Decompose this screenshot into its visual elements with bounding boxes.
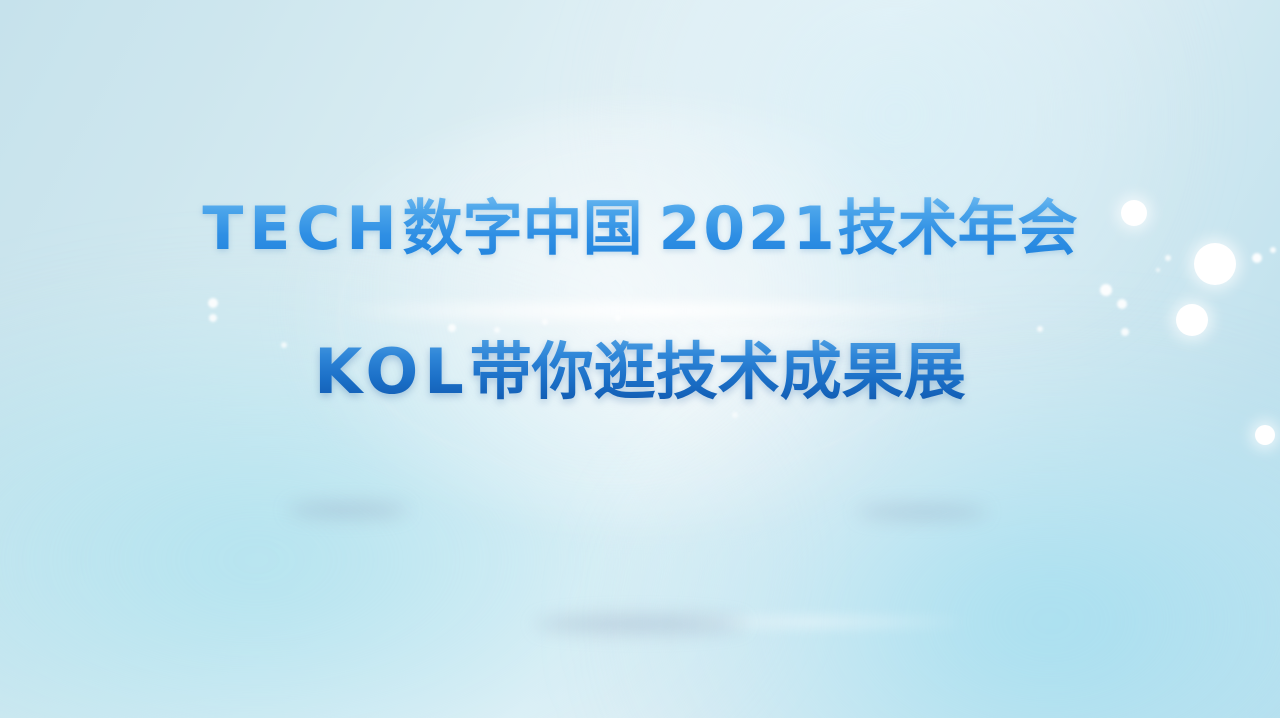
title-slide: TECH数字中国2021技术年会 KOL带你逛技术成果展 [0, 0, 1280, 718]
event-subtitle-cjk: 带你逛技术成果展 [470, 335, 966, 408]
event-title-cjk-b: 技术年会 [838, 194, 1078, 264]
event-title-primary: TECH数字中国2021技术年会 [0, 196, 1280, 263]
haze-wisp [857, 505, 987, 519]
event-subtitle-latin: KOL [314, 335, 469, 408]
event-title-year: 2021 [659, 194, 838, 264]
bokeh-particle [1255, 425, 1275, 445]
event-title-latin: TECH [202, 194, 402, 264]
event-title-cjk-a: 数字中国 [403, 194, 643, 264]
bokeh-particle [732, 412, 738, 418]
haze-wisp [288, 502, 408, 518]
event-subtitle: KOL带你逛技术成果展 [0, 337, 1280, 406]
haze-wisp [535, 615, 745, 633]
title-block: TECH数字中国2021技术年会 KOL带你逛技术成果展 [0, 196, 1280, 407]
